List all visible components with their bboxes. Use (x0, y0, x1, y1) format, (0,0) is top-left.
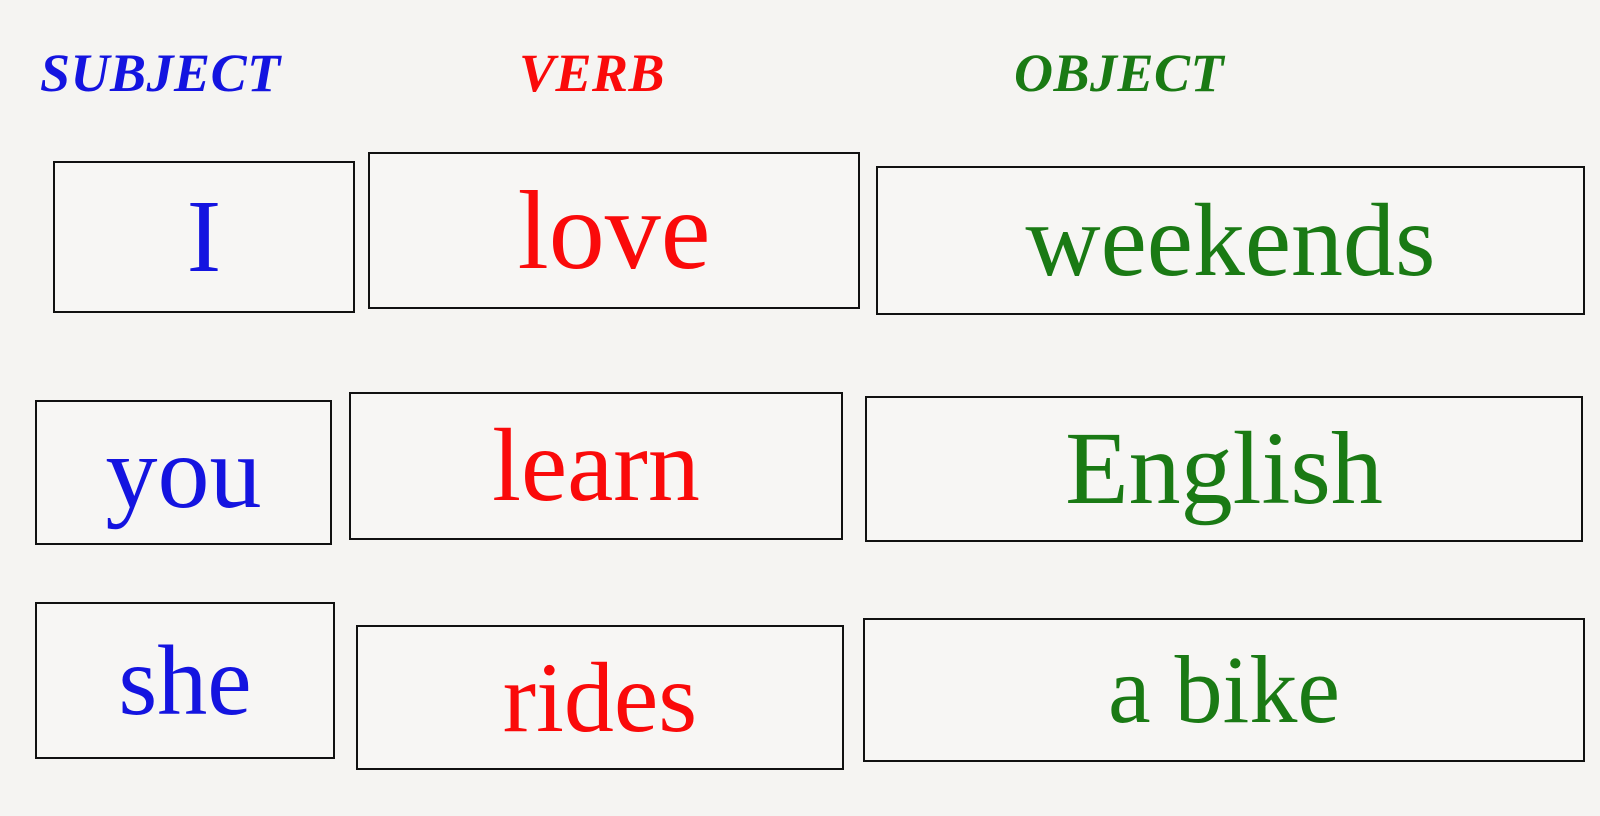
cell-row3-subject: she (35, 602, 335, 759)
word-text: rides (503, 648, 697, 748)
column-header-object: OBJECT (1014, 46, 1224, 100)
cell-row2-object: English (865, 396, 1583, 542)
word-text: you (106, 421, 262, 525)
word-text: weekends (1025, 189, 1435, 293)
word-text: I (187, 185, 222, 289)
column-header-verb: VERB (519, 46, 665, 100)
word-text: she (118, 631, 251, 731)
cell-row2-verb: learn (349, 392, 843, 540)
cell-row1-object: weekends (876, 166, 1585, 315)
cell-row3-object: a bike (863, 618, 1585, 762)
column-header-subject: SUBJECT (40, 46, 281, 100)
word-text: love (518, 175, 711, 287)
word-text: learn (492, 414, 700, 518)
word-text: a bike (1108, 642, 1340, 738)
cell-row3-verb: rides (356, 625, 844, 770)
cell-row1-verb: love (368, 152, 860, 309)
svo-table-figure: SUBJECT VERB OBJECT I love weekends you … (0, 0, 1600, 816)
cell-row2-subject: you (35, 400, 332, 545)
word-text: English (1065, 417, 1383, 521)
cell-row1-subject: I (53, 161, 355, 313)
